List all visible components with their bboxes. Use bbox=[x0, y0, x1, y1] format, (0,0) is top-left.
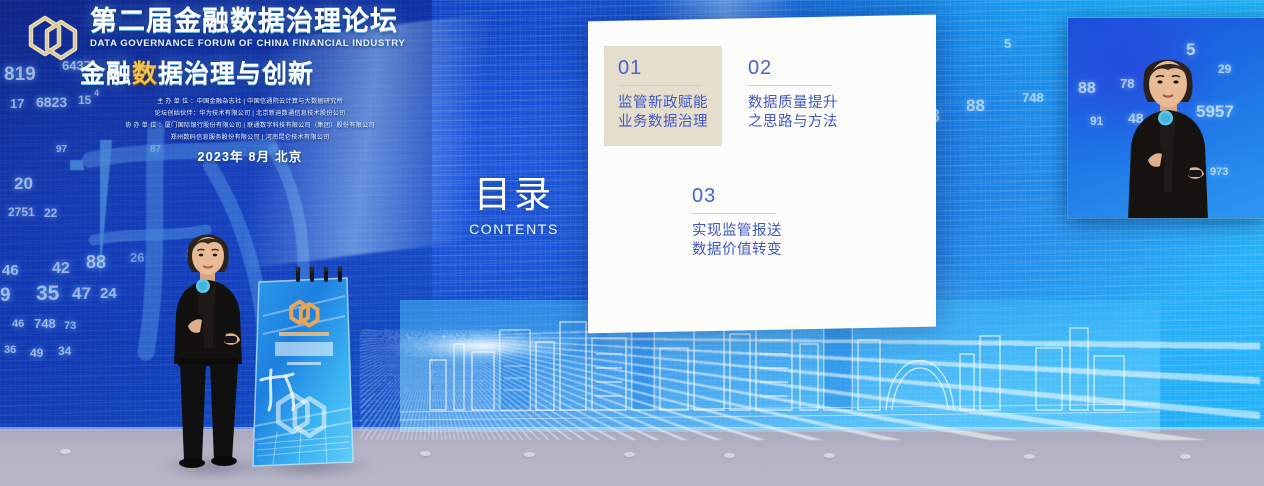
toc-heading: 目录 CONTENTS bbox=[452, 176, 576, 237]
floor-marker bbox=[824, 453, 835, 458]
backdrop-number: 36 bbox=[4, 344, 16, 356]
stage-scene: 819 6437 17 6823 15 4 20 88 2751 22 97 4… bbox=[0, 0, 1264, 486]
toc-item-rule bbox=[748, 85, 832, 86]
toc-heading-en: CONTENTS bbox=[452, 221, 576, 237]
toc-item-line2: 数据价值转变 bbox=[692, 241, 782, 260]
backdrop-number: 2751 bbox=[8, 205, 35, 219]
backdrop-number: 20 bbox=[14, 174, 33, 194]
floor-marker bbox=[420, 451, 431, 456]
podium bbox=[249, 276, 357, 468]
event-date-location: 2023年 8月 北京 bbox=[90, 146, 410, 165]
floor-marker bbox=[1024, 454, 1035, 459]
toc-item-rule bbox=[618, 85, 702, 86]
backdrop-number: 46 bbox=[12, 318, 24, 330]
toc-item-line1: 数据质量提升 bbox=[748, 94, 838, 113]
toc-item-line1: 监管新政赋能 bbox=[618, 94, 708, 113]
toc-item-line1: 实现监管报送 bbox=[692, 222, 782, 241]
backdrop-number: 35 bbox=[36, 282, 59, 306]
floor-marker bbox=[1180, 454, 1191, 459]
toc-item-02[interactable]: 02 数据质量提升 之思路与方法 bbox=[748, 58, 838, 132]
backdrop-number: 748 bbox=[34, 316, 56, 331]
organizer-line: 主 办 单 位 ：中国金融杂志社 | 中国信通院云计算与大数据研究所 bbox=[90, 96, 410, 108]
forum-title-cn: 第二届金融数据治理论坛 bbox=[90, 8, 410, 35]
toc-item-line2: 业务数据治理 bbox=[618, 113, 708, 132]
toc-item-number: 01 bbox=[618, 58, 708, 78]
organizers-block: 主 办 单 位 ：中国金融杂志社 | 中国信通院云计算与大数据研究所 论坛创始伙… bbox=[90, 96, 410, 144]
subtitle-part-2: 据治理与创新 bbox=[158, 60, 314, 88]
backdrop-number: 73 bbox=[64, 320, 76, 332]
event-banner: 第二届金融数据治理论坛 DATA GOVERNANCE FORUM OF CHI… bbox=[18, 6, 410, 170]
backdrop-number: 49 bbox=[30, 346, 43, 360]
toc-item-line2: 之思路与方法 bbox=[748, 113, 838, 132]
backdrop-number: 9 bbox=[0, 285, 11, 307]
inset-number: 91 bbox=[1090, 114, 1103, 128]
backdrop-number: 22 bbox=[44, 206, 57, 220]
toc-heading-cn: 目录 bbox=[452, 176, 576, 213]
organizer-line: 论坛创始伙伴：华为技术有限公司 | 北京新迪数通信息技术股份公司 bbox=[90, 108, 410, 120]
organizer-line: 郑州数码信息服务股份有限公司 | 河南昆仑技术有限公司 bbox=[90, 132, 410, 144]
backdrop-number: 42 bbox=[52, 260, 70, 278]
forum-logo-icon bbox=[24, 12, 82, 64]
backdrop-number: 26 bbox=[130, 250, 144, 265]
presentation-slide: 01 监管新政赋能 业务数据治理 02 数据质量提升 之思路与方法 03 实现监… bbox=[588, 15, 936, 334]
backdrop-number: 748 bbox=[1022, 90, 1044, 105]
toc-item-rule bbox=[692, 213, 776, 214]
backdrop-number: 47 bbox=[72, 284, 91, 304]
speaker-closeup-inset: 88 78 33 5 48 5957 973 29 91 bbox=[1068, 18, 1264, 218]
forum-subtitle: 金融数据治理与创新 bbox=[80, 62, 314, 87]
toc-item-number: 03 bbox=[692, 186, 782, 206]
backdrop-number: 5 bbox=[1004, 36, 1011, 51]
floor-marker bbox=[624, 452, 635, 457]
speaker-closeup-figure bbox=[1104, 42, 1232, 218]
floor-marker bbox=[724, 453, 735, 458]
subtitle-part-1: 金融 bbox=[80, 60, 132, 88]
forum-title-en: DATA GOVERNANCE FORUM OF CHINA FINANCIAL… bbox=[90, 38, 410, 49]
organizer-line: 协 办 单 位 ：厦门国际银行股份有限公司 | 联通数字科技有限公司（集团）股份… bbox=[90, 120, 410, 132]
toc-item-01[interactable]: 01 监管新政赋能 业务数据治理 bbox=[604, 46, 722, 146]
floor-marker bbox=[60, 449, 71, 454]
backdrop-number: 34 bbox=[58, 344, 71, 358]
inset-number: 88 bbox=[1078, 80, 1096, 98]
backdrop-number: 88 bbox=[966, 96, 985, 116]
backdrop-number: 24 bbox=[100, 285, 117, 302]
brand-block: 第二届金融数据治理论坛 DATA GOVERNANCE FORUM OF CHI… bbox=[90, 8, 410, 49]
toc-item-03[interactable]: 03 实现监管报送 数据价值转变 bbox=[692, 186, 782, 260]
podium-microphones bbox=[292, 266, 350, 284]
toc-item-number: 02 bbox=[748, 58, 838, 78]
subtitle-highlight-char: 数 bbox=[132, 60, 158, 88]
backdrop-number: 46 bbox=[2, 262, 19, 279]
floor-marker bbox=[524, 452, 535, 457]
backdrop-number: 88 bbox=[86, 252, 106, 273]
